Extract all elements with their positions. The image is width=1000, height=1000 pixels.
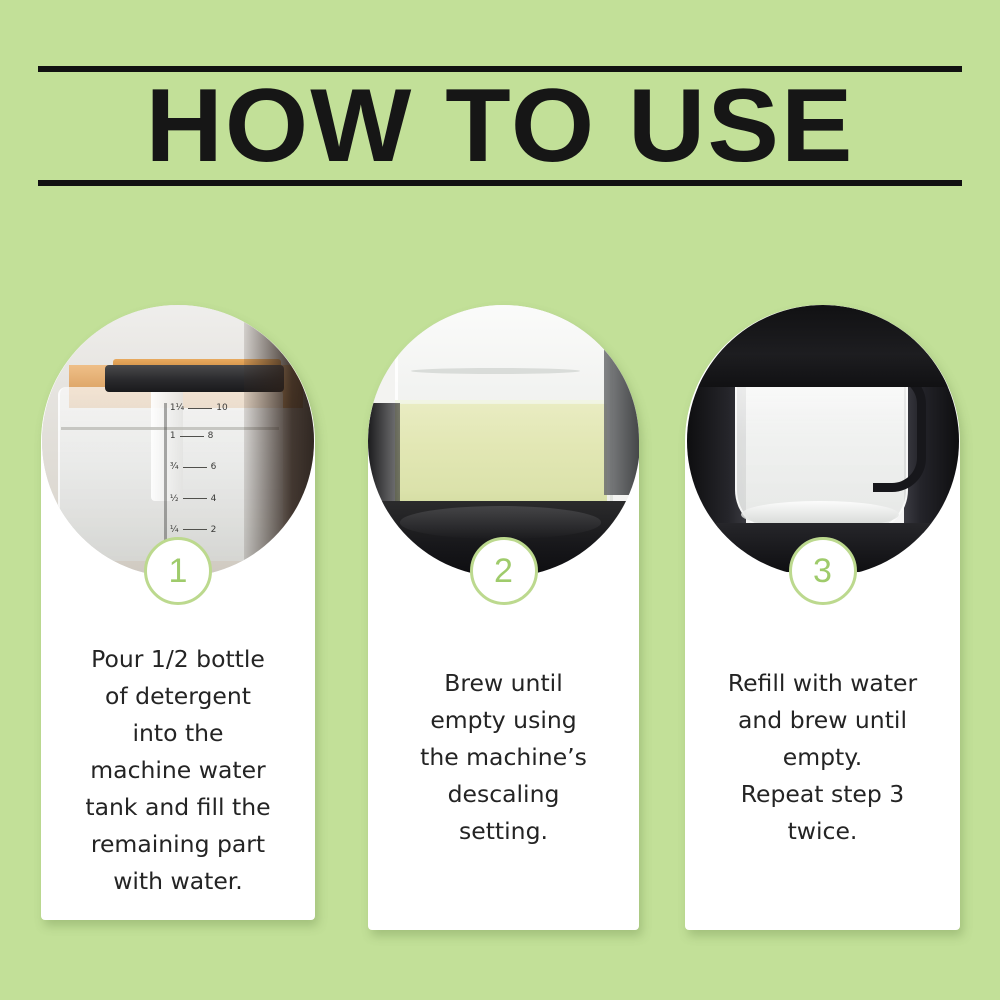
scale-cups-1: 8	[208, 431, 214, 441]
page-title: HOW TO USE	[24, 72, 976, 180]
poster-header: HOW TO USE	[38, 66, 962, 186]
header-bottom-rule	[38, 180, 962, 186]
scale-fraction-2: ¾	[170, 462, 179, 472]
step-caption-1: Pour 1/2 bottle of detergent into the ma…	[41, 641, 315, 900]
how-to-use-poster: HOW TO USE 1¼ 10	[0, 0, 1000, 1000]
steps-row: 1¼ 10 1 8 ¾ 6	[41, 305, 960, 935]
scale-fraction-1: 1	[170, 431, 176, 441]
step-badge-3: 3	[789, 537, 857, 605]
scale-cups-0: 10	[216, 403, 227, 413]
scale-cups-4: 2	[211, 525, 217, 535]
scale-cups-3: 4	[211, 494, 217, 504]
step-badge-1: 1	[144, 537, 212, 605]
step-card-2: 2 Brew until empty using the machine’s d…	[368, 305, 639, 930]
step-card-3: 3 Refill with water and brew until empty…	[685, 305, 960, 930]
scale-fraction-4: ¼	[170, 525, 179, 535]
step-caption-2: Brew until empty using the machine’s des…	[368, 665, 639, 850]
scale-fraction-3: ½	[170, 494, 179, 504]
step-badge-2: 2	[470, 537, 538, 605]
step-caption-3: Refill with water and brew until empty. …	[685, 665, 960, 850]
step-card-1: 1¼ 10 1 8 ¾ 6	[41, 305, 315, 920]
scale-fraction-0: 1¼	[170, 403, 184, 413]
scale-cups-2: 6	[211, 462, 217, 472]
